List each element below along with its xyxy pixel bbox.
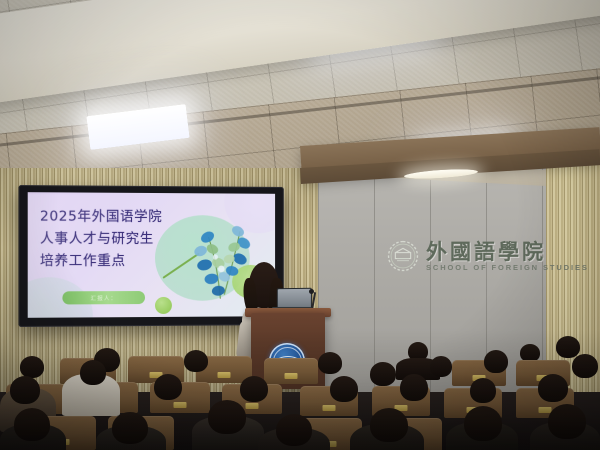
slide-title-line: 人事人才与研究生 — [40, 229, 181, 251]
audience-head — [572, 354, 598, 378]
audience-head — [370, 408, 408, 442]
audience-head — [370, 362, 396, 386]
audience-head — [556, 336, 580, 358]
audience-head — [208, 400, 246, 434]
audience-area — [0, 330, 600, 450]
seat-number-plate — [285, 373, 298, 379]
slide-artwork-dot — [155, 297, 172, 314]
seat-number-plate — [174, 402, 187, 408]
audience-head — [184, 350, 208, 372]
wreath-emblem-icon — [386, 239, 420, 273]
microphone-head-icon — [309, 289, 314, 294]
slide-presenter-badge-text: 汇报人： — [91, 294, 118, 302]
audience-head — [240, 376, 268, 402]
audience-head — [318, 352, 342, 374]
slide-title-line: 2025年外国语学院 — [40, 206, 181, 229]
audience-head — [20, 356, 44, 378]
audience-head — [464, 406, 502, 441]
signage-english-text: SCHOOL OF FOREIGN STUDIES — [426, 263, 589, 272]
audience-head — [276, 414, 312, 446]
audience-head — [484, 350, 508, 373]
seat-number-plate — [218, 372, 231, 378]
audience-head — [14, 408, 50, 441]
audience-head — [538, 374, 568, 402]
seat[interactable] — [264, 358, 318, 384]
audience-head — [430, 356, 452, 377]
audience-head — [400, 374, 428, 401]
audience-head — [154, 374, 182, 400]
wall-signage: 外國語學院 SCHOOL OF FOREIGN STUDIES — [386, 238, 558, 280]
audience-head — [330, 376, 358, 402]
audience-head — [548, 404, 586, 439]
seat-number-plate — [323, 405, 336, 411]
lecture-hall-photo: 外國語學院 SCHOOL OF FOREIGN STUDIES — [0, 0, 600, 450]
audience-head — [80, 360, 106, 385]
audience-head — [470, 378, 496, 403]
slide-title-line: 培养工作重点 — [40, 251, 181, 273]
slide-title: 2025年外国语学院人事人才与研究生培养工作重点 — [40, 206, 181, 272]
slide-presenter-badge: 汇报人： — [62, 291, 145, 304]
seat-number-plate — [246, 403, 259, 409]
signage-chinese-text: 外國語學院 — [426, 236, 546, 266]
audience-head — [112, 412, 148, 444]
audience-head — [10, 376, 40, 404]
